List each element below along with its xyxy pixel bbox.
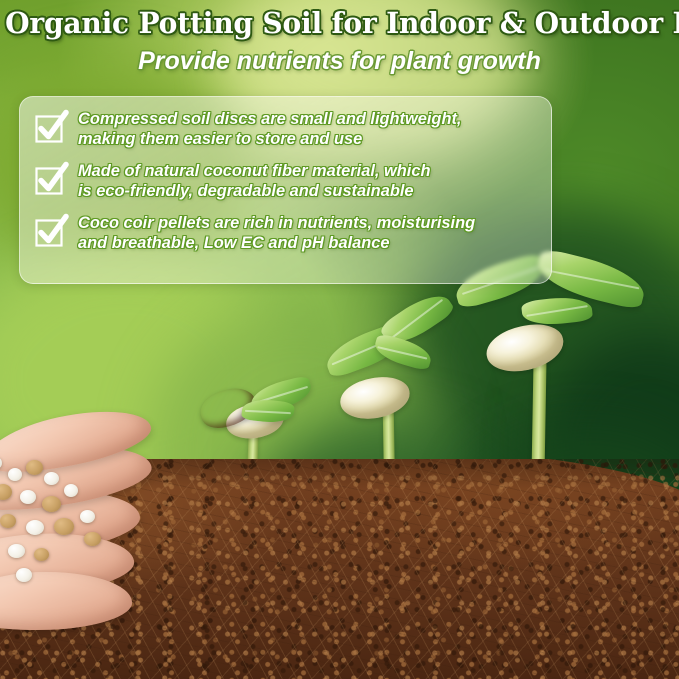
checkbox-checked-icon — [34, 217, 64, 247]
feature-text: Made of natural coconut fiber material, … — [78, 162, 430, 201]
cotyledon — [482, 318, 567, 377]
tan-pellet — [42, 496, 61, 512]
feature-text: Compressed soil discs are small and ligh… — [78, 110, 461, 149]
list-item: Compressed soil discs are small and ligh… — [34, 110, 537, 149]
feature-line-2: is eco-friendly, degradable and sustaina… — [78, 182, 430, 202]
feature-line-1: Coco coir pellets are rich in nutrients,… — [78, 214, 475, 234]
feature-line-1: Made of natural coconut fiber material, … — [78, 162, 430, 182]
white-pellet — [8, 468, 22, 481]
product-marketing-image: Organic Potting Soil for Indoor & Outdoo… — [0, 0, 679, 679]
white-pellet — [80, 510, 95, 523]
list-item: Made of natural coconut fiber material, … — [34, 162, 537, 201]
tan-pellet — [84, 532, 101, 546]
leaf — [521, 294, 593, 327]
feature-text: Coco coir pellets are rich in nutrients,… — [78, 214, 475, 253]
feature-line-2: making them easier to store and use — [78, 130, 461, 150]
white-pellet — [20, 490, 36, 504]
white-pellet — [26, 520, 44, 535]
white-pellet — [8, 544, 25, 558]
feature-line-1: Compressed soil discs are small and ligh… — [78, 110, 461, 130]
cotyledon — [337, 373, 412, 423]
tan-pellet — [54, 518, 74, 535]
white-pellet — [64, 484, 78, 497]
checkbox-checked-icon — [34, 113, 64, 143]
list-item: Coco coir pellets are rich in nutrients,… — [34, 214, 537, 253]
page-subtitle: Provide nutrients for plant growth — [0, 47, 679, 76]
page-title: Organic Potting Soil for Indoor & Outdoo… — [5, 6, 674, 40]
tan-pellet — [34, 548, 49, 561]
feature-line-2: and breathable, Low EC and pH balance — [78, 234, 475, 254]
checkbox-checked-icon — [34, 165, 64, 195]
white-pellet — [44, 472, 59, 485]
hand-holding-soil-pellets — [0, 372, 250, 632]
tan-pellet — [0, 514, 16, 528]
tan-pellet — [26, 460, 43, 475]
feature-list-panel: Compressed soil discs are small and ligh… — [19, 96, 552, 284]
white-pellet — [16, 568, 32, 582]
